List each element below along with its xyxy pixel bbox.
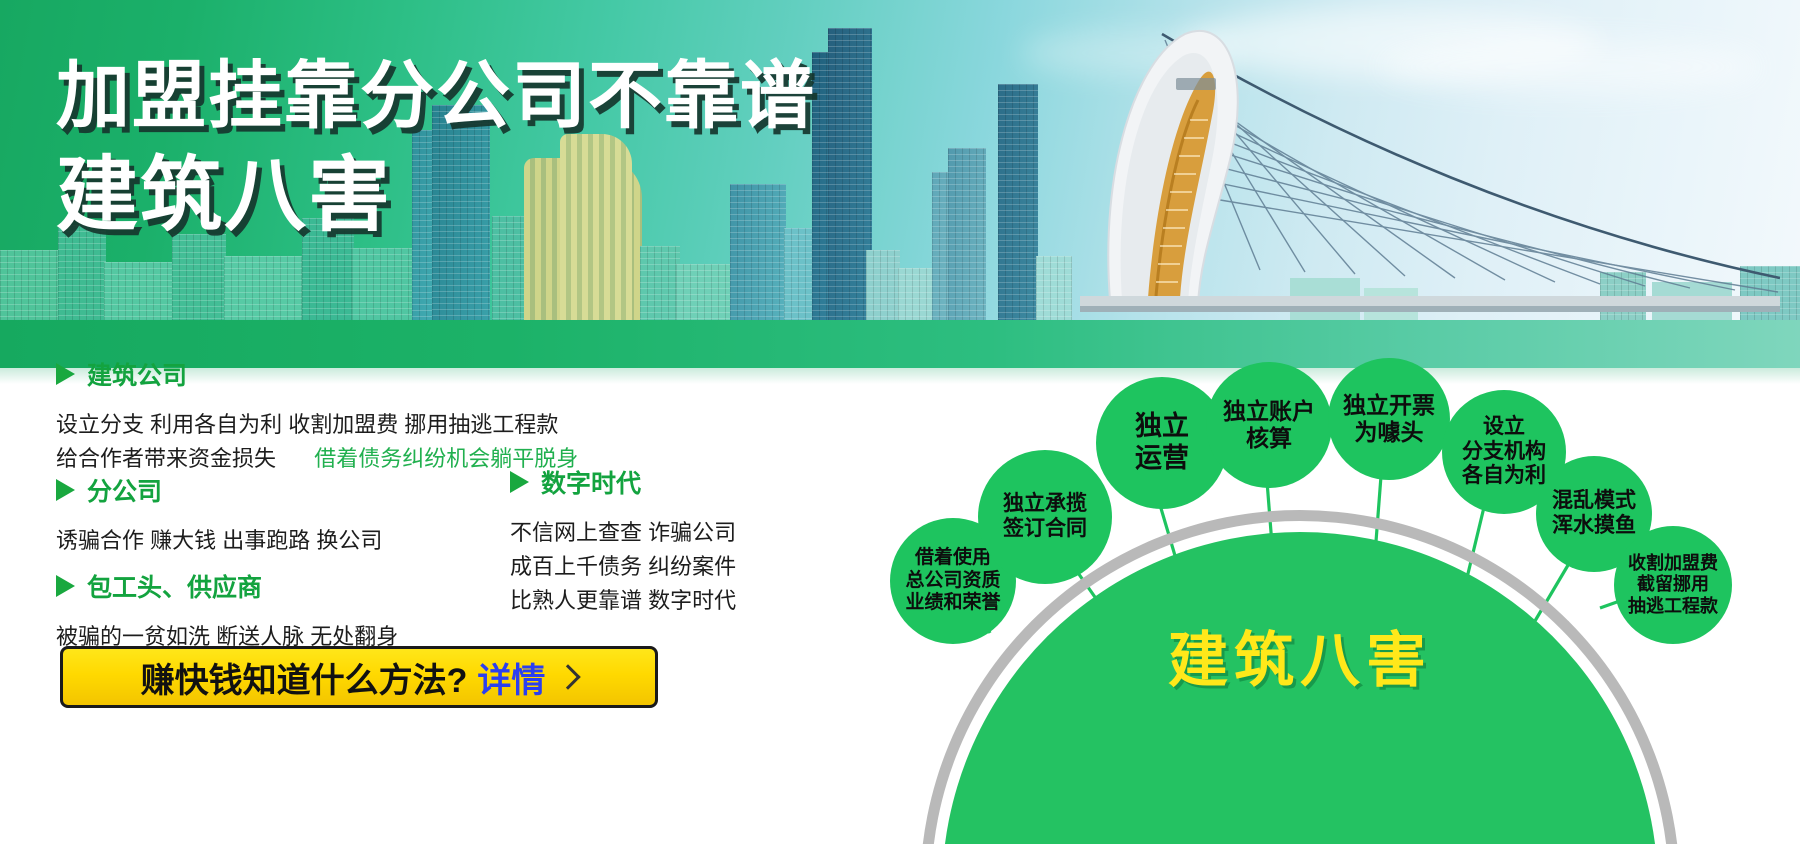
building bbox=[172, 234, 226, 320]
section-branch-company: 分公司 诱骗合作 赚大钱 出事跑路 换公司 bbox=[56, 472, 382, 558]
poster-stage: 加盟挂靠分公司不靠谱 建筑八害 建筑公司 设立分支 利用各自为利 收割加盟费 挪… bbox=[0, 0, 1800, 844]
cta-label: 赚快钱知道什么方法? bbox=[141, 653, 468, 702]
bubble-independent-contracting[interactable]: 独立承揽 签订合同 bbox=[978, 450, 1112, 584]
body-line: 比熟人更靠谱 数字时代 bbox=[510, 584, 736, 618]
section-heading: 数字时代 bbox=[510, 464, 736, 500]
body-line: 成百上千债务 纠纷案件 bbox=[510, 550, 736, 584]
headline-line-2: 建筑八害 bbox=[56, 152, 816, 241]
body-line-plain: 给合作者带来资金损失 bbox=[56, 446, 276, 471]
headline-line-1: 加盟挂靠分公司不靠谱 bbox=[56, 56, 816, 136]
bubble-independent-invoice[interactable]: 独立开票 为噱头 bbox=[1328, 358, 1450, 480]
hero-headline: 加盟挂靠分公司不靠谱 建筑八害 bbox=[56, 56, 816, 240]
bridge-svg bbox=[1080, 20, 1780, 320]
building bbox=[1036, 256, 1072, 320]
bubble-harvest-franchise-fee[interactable]: 收割加盟费 截留挪用 抽逃工程款 bbox=[1614, 526, 1732, 644]
triangle-bullet-icon bbox=[510, 471, 529, 493]
building bbox=[352, 248, 418, 320]
liede-bridge-image bbox=[1080, 20, 1780, 320]
hero-banner: 加盟挂靠分公司不靠谱 建筑八害 bbox=[0, 0, 1800, 368]
building bbox=[640, 246, 680, 320]
section-title: 分公司 bbox=[87, 472, 162, 508]
cta-link-label[interactable]: 详情 bbox=[477, 653, 545, 702]
section-construction-company: 建筑公司 设立分支 利用各自为利 收割加盟费 挪用抽逃工程款 给合作者带来资金损… bbox=[56, 356, 578, 476]
building bbox=[784, 228, 814, 320]
chevron-right-icon bbox=[556, 664, 581, 689]
section-title: 数字时代 bbox=[541, 464, 641, 500]
triangle-bullet-icon bbox=[56, 363, 75, 385]
triangle-bullet-icon bbox=[56, 479, 75, 501]
building bbox=[866, 250, 900, 320]
section-body: 设立分支 利用各自为利 收割加盟费 挪用抽逃工程款 给合作者带来资金损失 借着债… bbox=[56, 408, 578, 476]
section-digital-era: 数字时代 不信网上查查 诈骗公司 成百上千债务 纠纷案件 比熟人更靠谱 数字时代 bbox=[510, 464, 736, 618]
left-content-panel: 建筑公司 设立分支 利用各自为利 收割加盟费 挪用抽逃工程款 给合作者带来资金损… bbox=[0, 368, 900, 844]
section-heading: 分公司 bbox=[56, 472, 382, 508]
section-body: 不信网上查查 诈骗公司 成百上千债务 纠纷案件 比熟人更靠谱 数字时代 bbox=[510, 516, 736, 618]
section-title: 包工头、供应商 bbox=[87, 568, 262, 604]
section-heading: 建筑公司 bbox=[56, 356, 578, 392]
eight-harms-diagram: 建筑八害 借着使用 总公司资质 业绩和荣誉 独立承揽 签订合同 独立 运营 独立… bbox=[900, 368, 1800, 844]
body-line: 诱骗合作 赚大钱 出事跑路 换公司 bbox=[56, 524, 382, 558]
building bbox=[0, 250, 60, 320]
building bbox=[998, 84, 1038, 320]
section-body: 诱骗合作 赚大钱 出事跑路 换公司 bbox=[56, 524, 382, 558]
triangle-bullet-icon bbox=[56, 575, 75, 597]
section-title: 建筑公司 bbox=[87, 356, 187, 392]
building bbox=[948, 148, 986, 320]
body-line: 不信网上查查 诈骗公司 bbox=[510, 516, 736, 550]
building bbox=[104, 262, 174, 320]
section-contractor-supplier: 包工头、供应商 被骗的一贫如洗 断送人脉 无处翻身 bbox=[56, 568, 398, 654]
building bbox=[224, 256, 304, 320]
body-line: 设立分支 利用各自为利 收割加盟费 挪用抽逃工程款 bbox=[56, 408, 578, 442]
cta-button[interactable]: 赚快钱知道什么方法? 详情 bbox=[60, 646, 658, 708]
bubble-independent-account[interactable]: 独立账户 核算 bbox=[1206, 362, 1332, 488]
building bbox=[676, 264, 734, 320]
dome-center-label: 建筑八害 bbox=[942, 612, 1658, 699]
section-heading: 包工头、供应商 bbox=[56, 568, 398, 604]
